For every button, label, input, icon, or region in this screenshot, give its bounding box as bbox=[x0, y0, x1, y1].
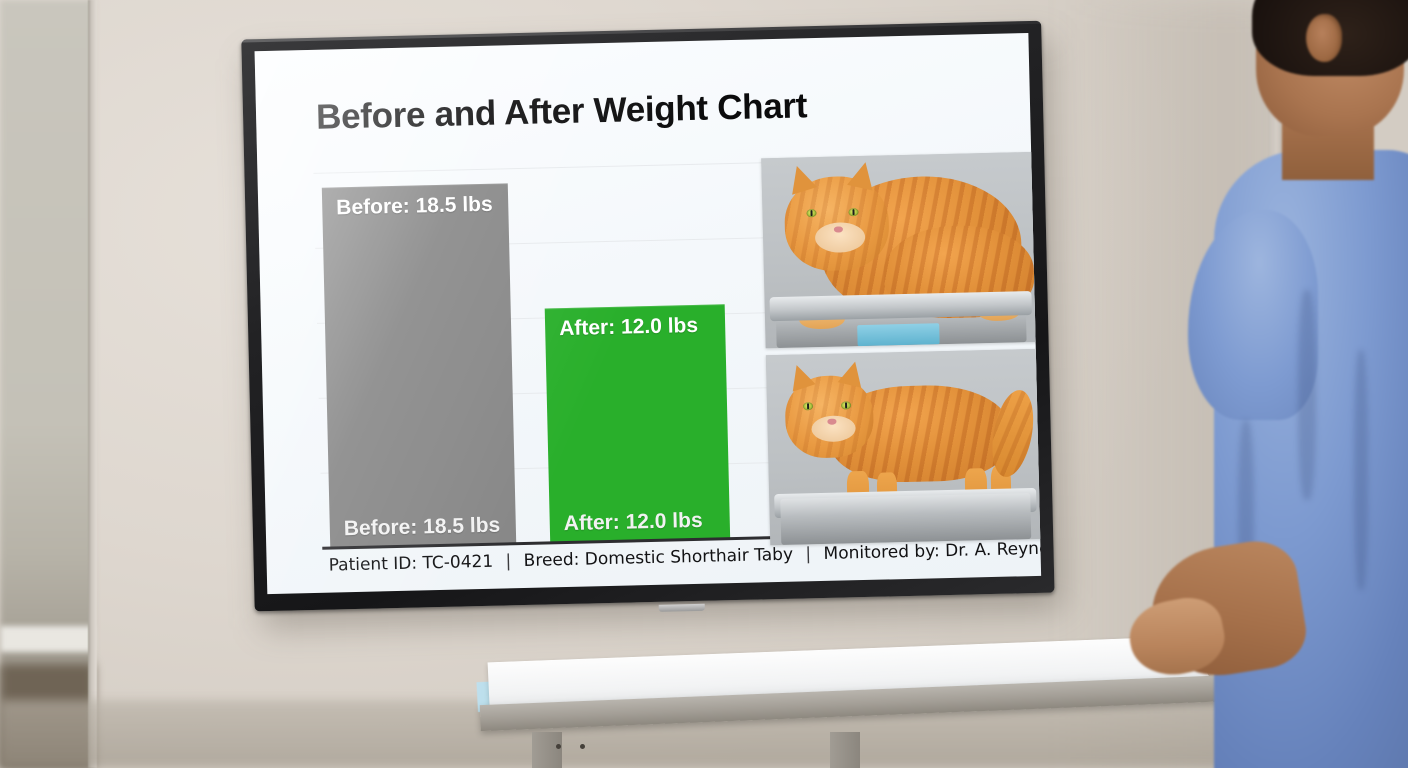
before-photo bbox=[761, 152, 1037, 348]
tv-brand-nub bbox=[659, 604, 705, 612]
chart-plot-area: Before: 18.5 lbs Before: 18.5 lbs After:… bbox=[313, 162, 772, 547]
bar-after[interactable]: After: 12.0 lbs After: 12.0 lbs bbox=[545, 304, 730, 542]
ear bbox=[1306, 14, 1342, 62]
footer-breed: Breed: Domestic Shorthair Taby bbox=[523, 545, 793, 571]
footer-patient-id: Patient ID: TC-0421 bbox=[328, 552, 493, 576]
table-bolt bbox=[556, 744, 561, 749]
veterinarian-figure bbox=[1178, 0, 1408, 768]
footer-separator: | bbox=[798, 544, 818, 564]
bar-after-label-bottom: After: 12.0 lbs bbox=[564, 509, 703, 536]
presentation-slide: Before and After Weight Chart Before: 18… bbox=[255, 33, 1042, 594]
scale-display-icon bbox=[858, 323, 940, 346]
page-title: Before and After Weight Chart bbox=[316, 86, 808, 138]
tv-screen[interactable]: Before and After Weight Chart Before: 18… bbox=[255, 33, 1042, 594]
exam-room-scene: Before and After Weight Chart Before: 18… bbox=[0, 0, 1408, 768]
gridline bbox=[313, 162, 763, 174]
exam-table-leg bbox=[830, 732, 860, 768]
wall-mounted-tv[interactable]: Before and After Weight Chart Before: 18… bbox=[241, 21, 1058, 620]
exam-table-leg bbox=[532, 732, 562, 768]
wall-corner-edge bbox=[88, 0, 97, 768]
background-left-blurred bbox=[0, 0, 94, 768]
table-bolt bbox=[580, 744, 585, 749]
bar-after-label-top: After: 12.0 lbs bbox=[559, 314, 698, 341]
footer-separator: | bbox=[498, 551, 518, 571]
background-shelf bbox=[0, 626, 94, 652]
after-photo bbox=[766, 349, 1041, 545]
veterinarian bbox=[1178, 0, 1408, 768]
bar-before-label-bottom: Before: 18.5 lbs bbox=[344, 514, 501, 542]
cat-ear-right-icon bbox=[847, 159, 878, 190]
scale-body-icon bbox=[780, 493, 1031, 544]
bar-before-label-top: Before: 18.5 lbs bbox=[336, 193, 493, 221]
bar-before[interactable]: Before: 18.5 lbs Before: 18.5 lbs bbox=[322, 183, 516, 547]
